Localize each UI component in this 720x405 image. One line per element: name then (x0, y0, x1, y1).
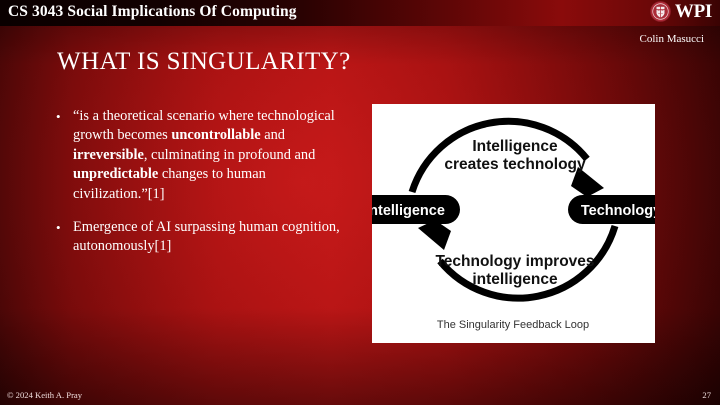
bullet-item-2: • Emergence of AI surpassing human cogni… (53, 218, 353, 257)
singularity-feedback-loop-diagram: Intelligence creates technology Technolo… (372, 104, 655, 343)
slide-title: WHAT IS SINGULARITY? (57, 48, 351, 76)
diagram-caption: The Singularity Feedback Loop (437, 319, 589, 331)
bullet-text-1: “is a theoretical scenario where technol… (73, 108, 335, 202)
author-name: Colin Masucci (640, 33, 704, 45)
wpi-seal-icon (650, 1, 671, 22)
label-technology-improves-line1: Technology improves (435, 253, 594, 270)
bullet-marker-icon: • (56, 107, 61, 126)
label-technology-improves-line2: intelligence (472, 271, 558, 288)
wpi-logo: WPI (650, 1, 712, 22)
node-intelligence-label: Intelligence (372, 203, 445, 219)
course-title: CS 3043 Social Implications Of Computing (8, 3, 297, 21)
slide-header-bar: CS 3043 Social Implications Of Computing… (0, 0, 720, 26)
footer-page-number: 27 (702, 390, 711, 400)
bullet-marker-icon: • (56, 218, 61, 237)
feedback-loop-graphic: Intelligence creates technology Technolo… (372, 104, 655, 343)
bullet-text-2: Emergence of AI surpassing human cogniti… (73, 219, 340, 254)
footer-copyright: © 2024 Keith A. Pray (7, 390, 82, 400)
presentation-slide: CS 3043 Social Implications Of Computing… (0, 0, 720, 405)
arrowhead-to-intelligence (418, 220, 451, 250)
wpi-wordmark: WPI (675, 1, 712, 22)
node-technology-label: Technology (581, 203, 655, 219)
label-intelligence-creates-line2: creates technology (444, 156, 586, 173)
bullet-list: • “is a theoretical scenario where techn… (53, 107, 353, 271)
label-intelligence-creates-line1: Intelligence (472, 138, 558, 155)
bullet-item-1: • “is a theoretical scenario where techn… (53, 107, 353, 204)
